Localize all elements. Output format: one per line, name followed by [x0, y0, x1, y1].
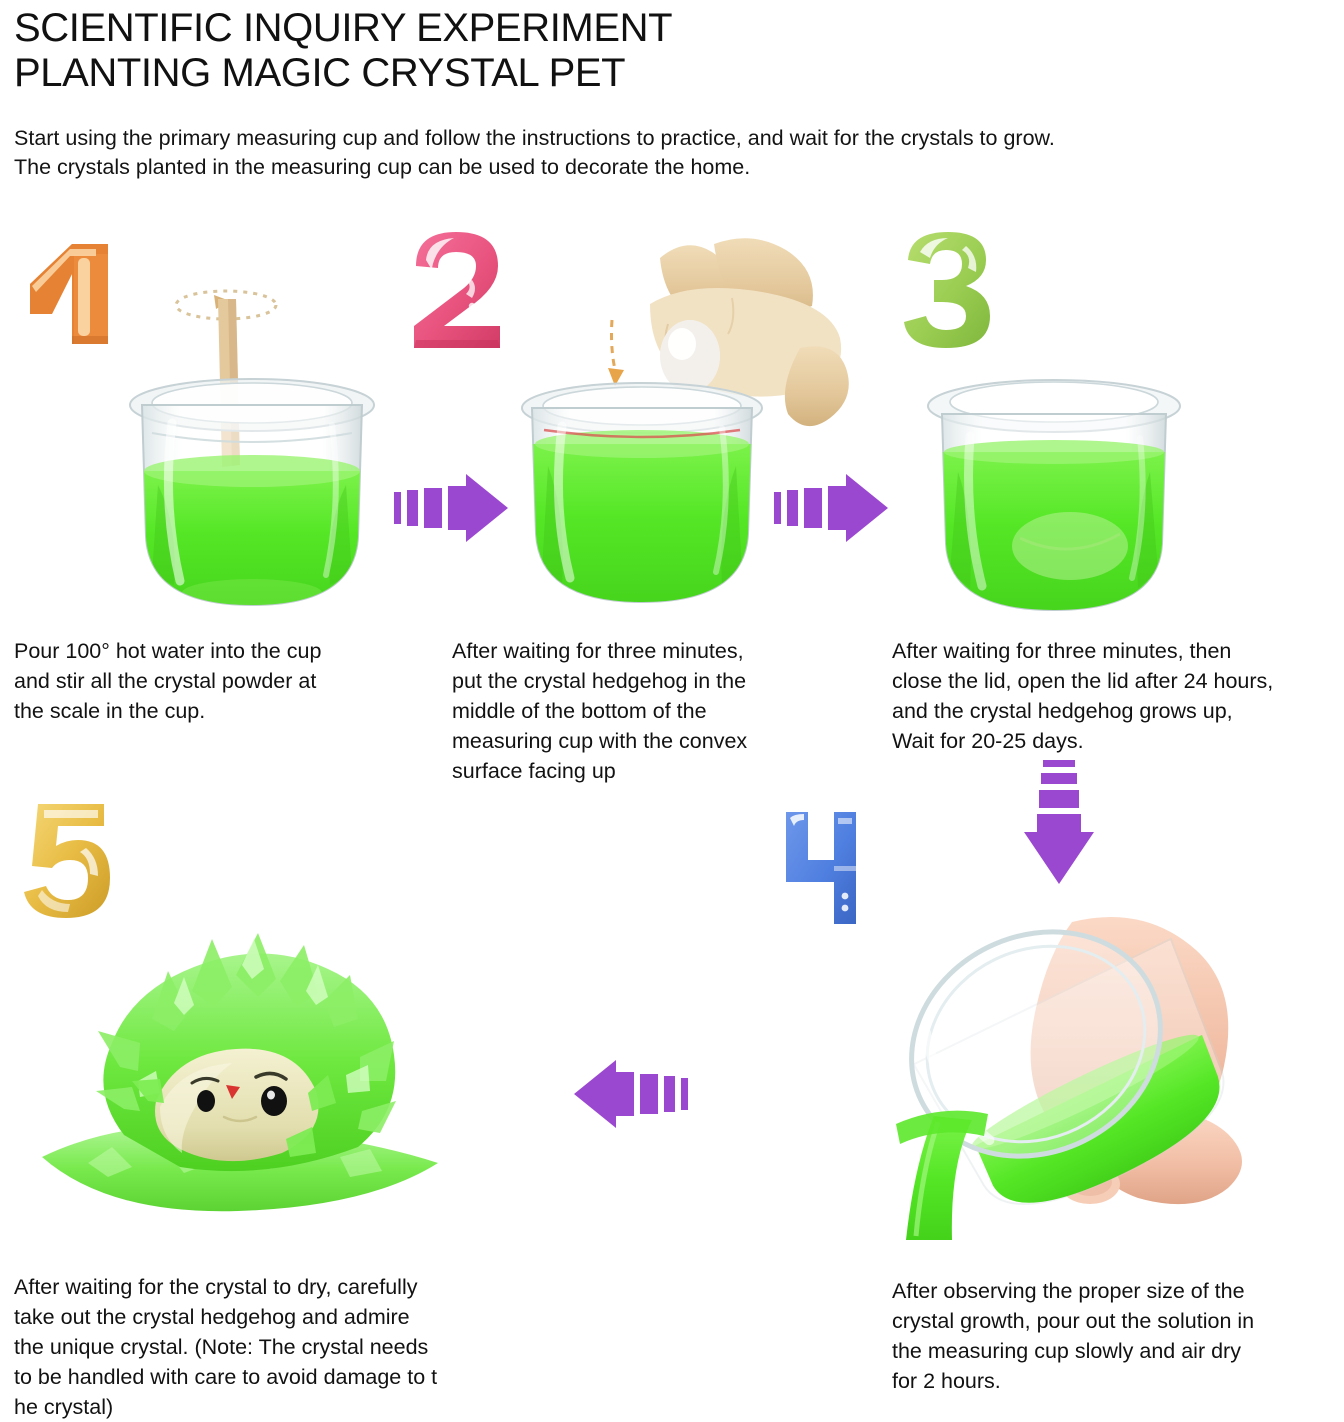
illustration-step-2	[500, 228, 860, 626]
step-number-3	[892, 222, 1002, 352]
illustration-step-5	[28, 895, 458, 1240]
caption-step-3: After waiting for three minutes, then cl…	[892, 636, 1344, 756]
arrow-step3-to-step4	[1022, 758, 1096, 888]
caption-step-1: Pour 100° hot water into the cup and sti…	[14, 636, 414, 726]
step-number-1	[12, 218, 122, 348]
step-number-2	[402, 222, 512, 352]
step-number-4	[772, 798, 882, 928]
caption-step-4: After observing the proper size of the c…	[892, 1276, 1344, 1396]
illustration-step-1	[118, 275, 386, 623]
arrow-step1-to-step2	[392, 472, 510, 544]
illustration-step-3	[920, 356, 1188, 624]
page-title: SCIENTIFIC INQUIRY EXPERIMENT PLANTING M…	[14, 0, 1330, 96]
caption-step-5: After waiting for the crystal to dry, ca…	[14, 1272, 534, 1422]
illustration-step-4	[876, 898, 1286, 1248]
arrow-step2-to-step3	[772, 472, 890, 544]
infographic-page: SCIENTIFIC INQUIRY EXPERIMENT PLANTING M…	[0, 0, 1344, 1419]
arrow-step4-to-step5	[572, 1058, 690, 1130]
caption-step-2: After waiting for three minutes, put the…	[452, 636, 872, 786]
intro-paragraph: Start using the primary measuring cup an…	[14, 96, 1330, 182]
